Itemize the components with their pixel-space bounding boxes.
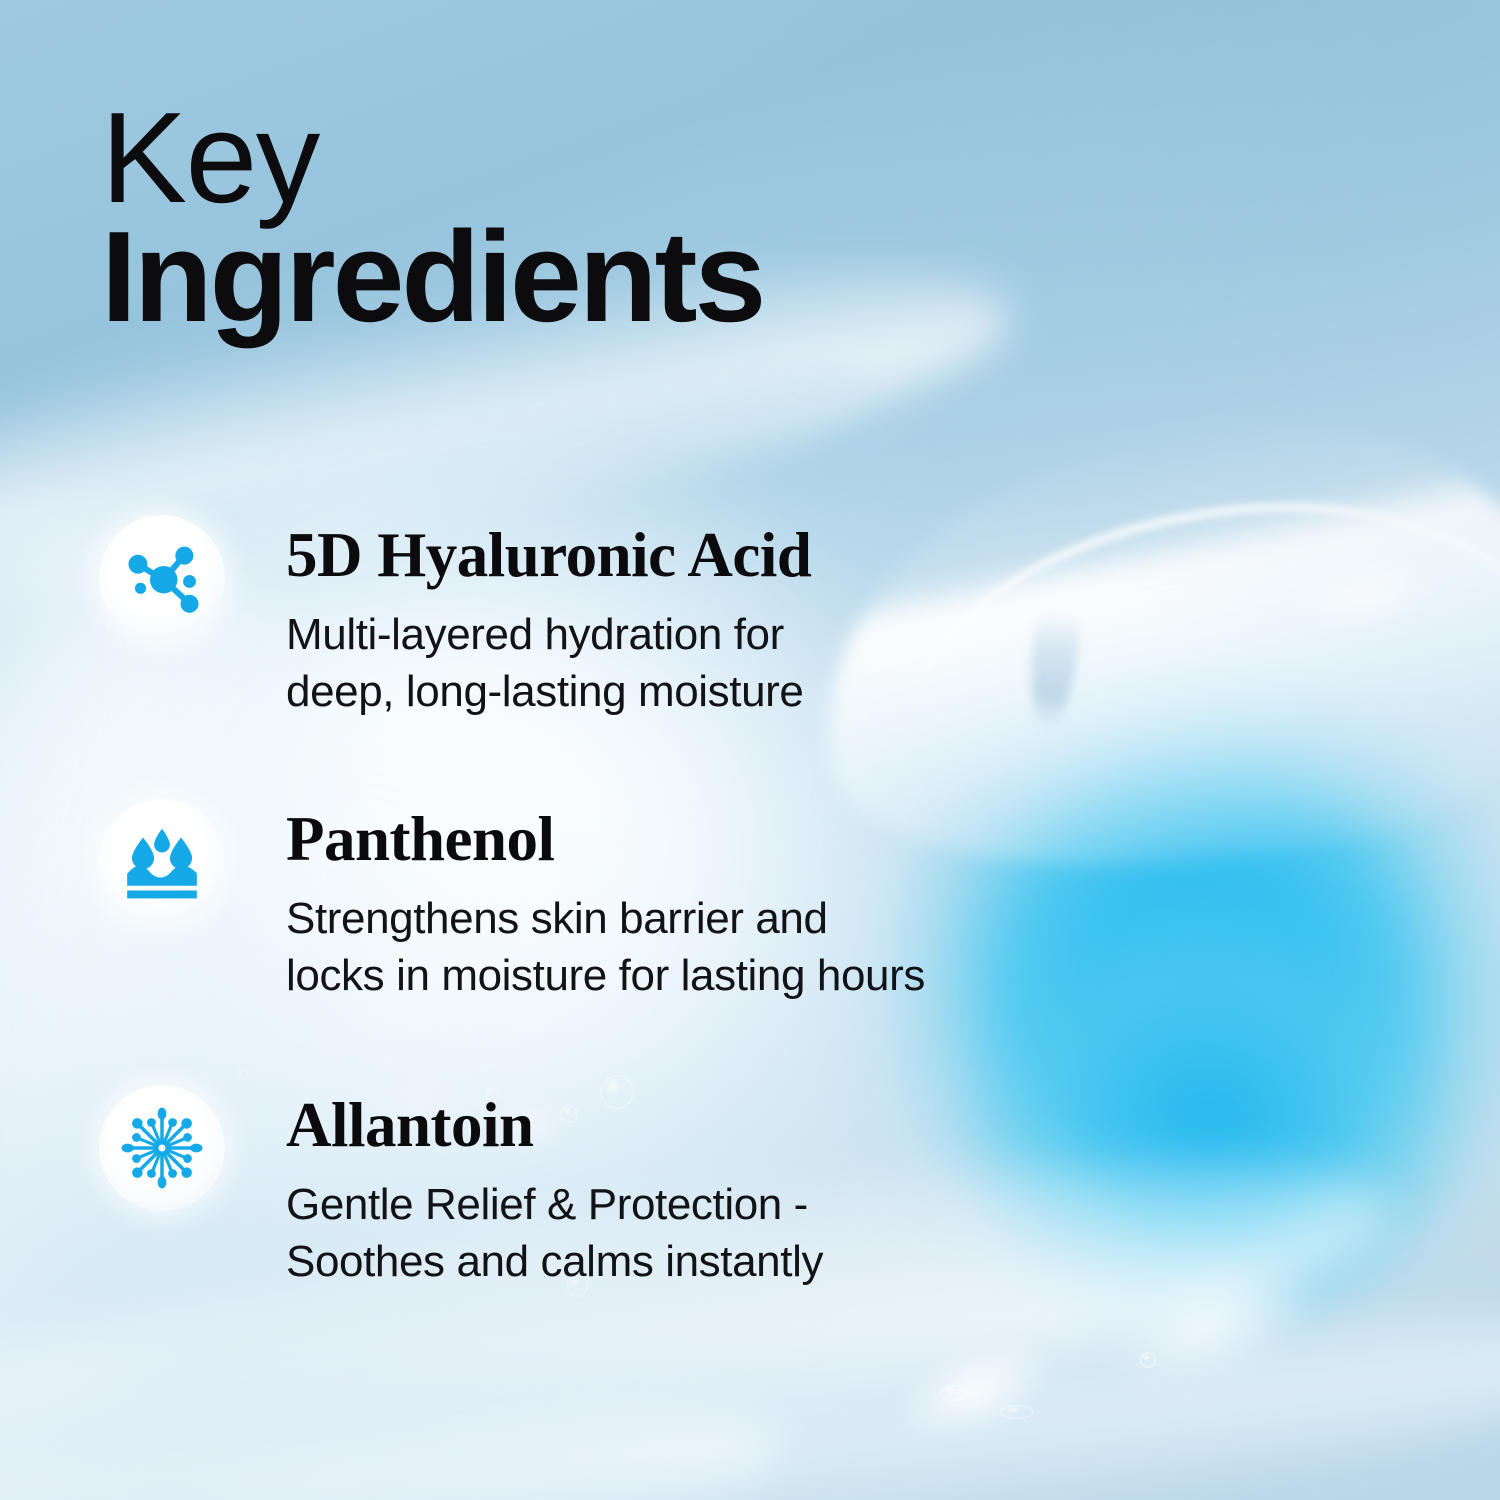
ingredient-text-block: Allantoin Gentle Relief & Protection - S… [286,1085,823,1290]
ingredient-item-hyaluronic-acid: 5D Hyaluronic Acid Multi-layered hydrati… [99,515,811,720]
ingredient-item-allantoin: Allantoin Gentle Relief & Protection - S… [99,1085,823,1290]
ingredient-name: 5D Hyaluronic Acid [286,524,811,587]
molecule-icon [119,535,205,621]
ingredient-description: Strengthens skin barrier and locks in mo… [286,890,925,1004]
radial-burst-icon-badge [99,1085,225,1211]
ingredients-infographic: Key Ingredients [0,0,1500,1500]
ingredient-name: Allantoin [286,1094,823,1157]
page-title-line-1: Key [101,96,763,221]
water-droplets-barrier-icon [122,824,202,900]
molecule-icon-badge [99,515,225,641]
ingredient-text-block: Panthenol Strengthens skin barrier and l… [286,799,925,1004]
ingredient-name: Panthenol [286,808,925,871]
radial-burst-icon [118,1104,206,1192]
ingredient-item-panthenol: Panthenol Strengthens skin barrier and l… [99,799,925,1004]
ingredient-text-block: 5D Hyaluronic Acid Multi-layered hydrati… [286,515,811,720]
water-droplets-barrier-icon-badge [99,799,225,925]
page-title: Key Ingredients [101,96,763,342]
page-title-line-2: Ingredients [101,213,763,342]
ingredient-description: Multi-layered hydration for deep, long-l… [286,606,811,720]
ingredient-description: Gentle Relief & Protection - Soothes and… [286,1176,823,1290]
